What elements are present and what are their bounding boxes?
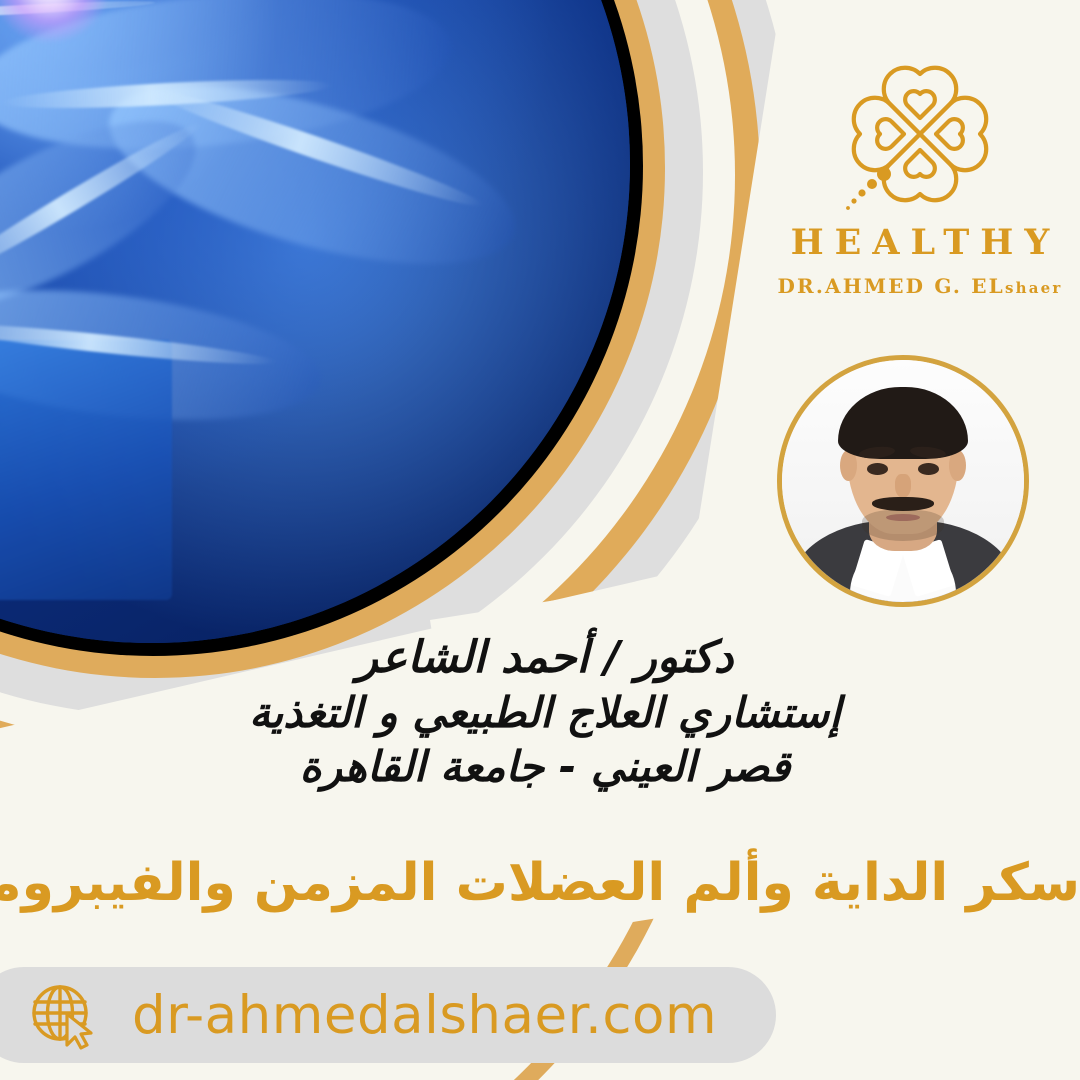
doctor-name: دكتور / أحمد الشاعر <box>40 630 1050 686</box>
pain-point-knee <box>0 0 110 43</box>
logo-title: HEALTHY <box>760 225 1080 260</box>
social-media-poster: HEALTHY DR.AHMED G. ELshaer دكتور / أحمد… <box>0 0 1080 1080</box>
website-url[interactable]: dr-ahmedalshaer.com <box>132 985 717 1046</box>
four-heart-clover-icon <box>820 46 1020 221</box>
website-bar[interactable]: dr-ahmedalshaer.com <box>0 967 776 1063</box>
brand-logo: HEALTHY DR.AHMED G. ELshaer <box>760 46 1080 296</box>
main-gold-ring <box>0 0 665 678</box>
xray-backdrop <box>0 0 630 643</box>
logo-subtitle-main: DR.AHMED G. EL <box>778 274 1005 298</box>
logo-subtitle: DR.AHMED G. ELshaer <box>760 276 1080 296</box>
hero-xray-image <box>0 0 630 643</box>
doctor-speciality: إستشاري العلاج الطبيعي و التغذية <box>40 686 1050 740</box>
doctor-credentials: دكتور / أحمد الشاعر إستشاري العلاج الطبي… <box>40 630 1050 794</box>
globe-cursor-icon <box>26 979 98 1051</box>
doctor-affiliation: قصر العيني - جامعة القاهرة <box>40 740 1050 794</box>
black-outline-ring <box>0 0 643 656</box>
headline-topic: سكر الداية وألم العضلات المزمن والفيبروم… <box>0 855 1080 912</box>
logo-subtitle-tail: shaer <box>1005 279 1063 297</box>
avatar <box>777 355 1029 607</box>
